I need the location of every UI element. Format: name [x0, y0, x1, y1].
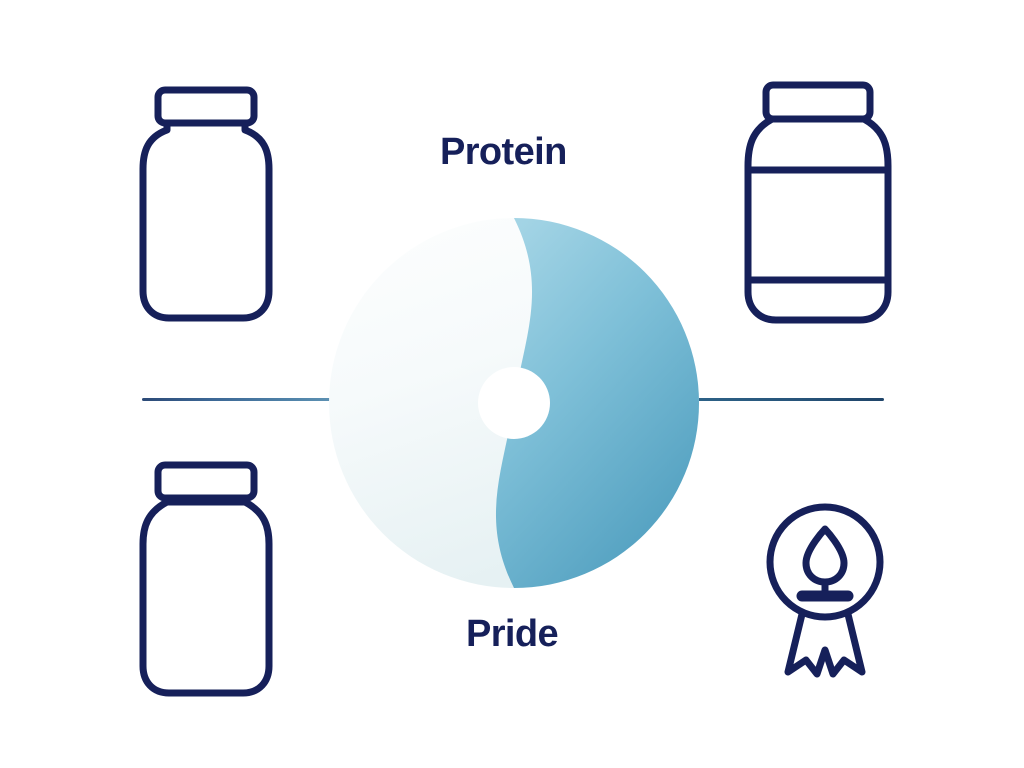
- divider-line-right: [694, 398, 884, 401]
- jar-rimmed-body: [143, 502, 269, 693]
- jar-rimmed-cap: [158, 465, 254, 498]
- wordmark-protein: Protein: [440, 133, 586, 171]
- jar-plain-cap: [158, 90, 254, 123]
- divider-line-left: [142, 398, 337, 401]
- disc-center-hole: [478, 367, 550, 439]
- wordmark-pride: Pride: [466, 615, 558, 653]
- jar-supplement-icon: [738, 80, 898, 330]
- logo-canvas: Protein Pride: [0, 0, 1024, 768]
- jar-plain-icon: [126, 85, 286, 325]
- jar-rimmed-icon: [126, 460, 286, 700]
- jar-plain-body: [143, 123, 269, 318]
- jar-supplement-body: [748, 119, 888, 320]
- split-disc-emblem: [329, 218, 699, 588]
- award-badge-icon: [760, 500, 890, 685]
- jar-supplement-cap: [766, 85, 870, 119]
